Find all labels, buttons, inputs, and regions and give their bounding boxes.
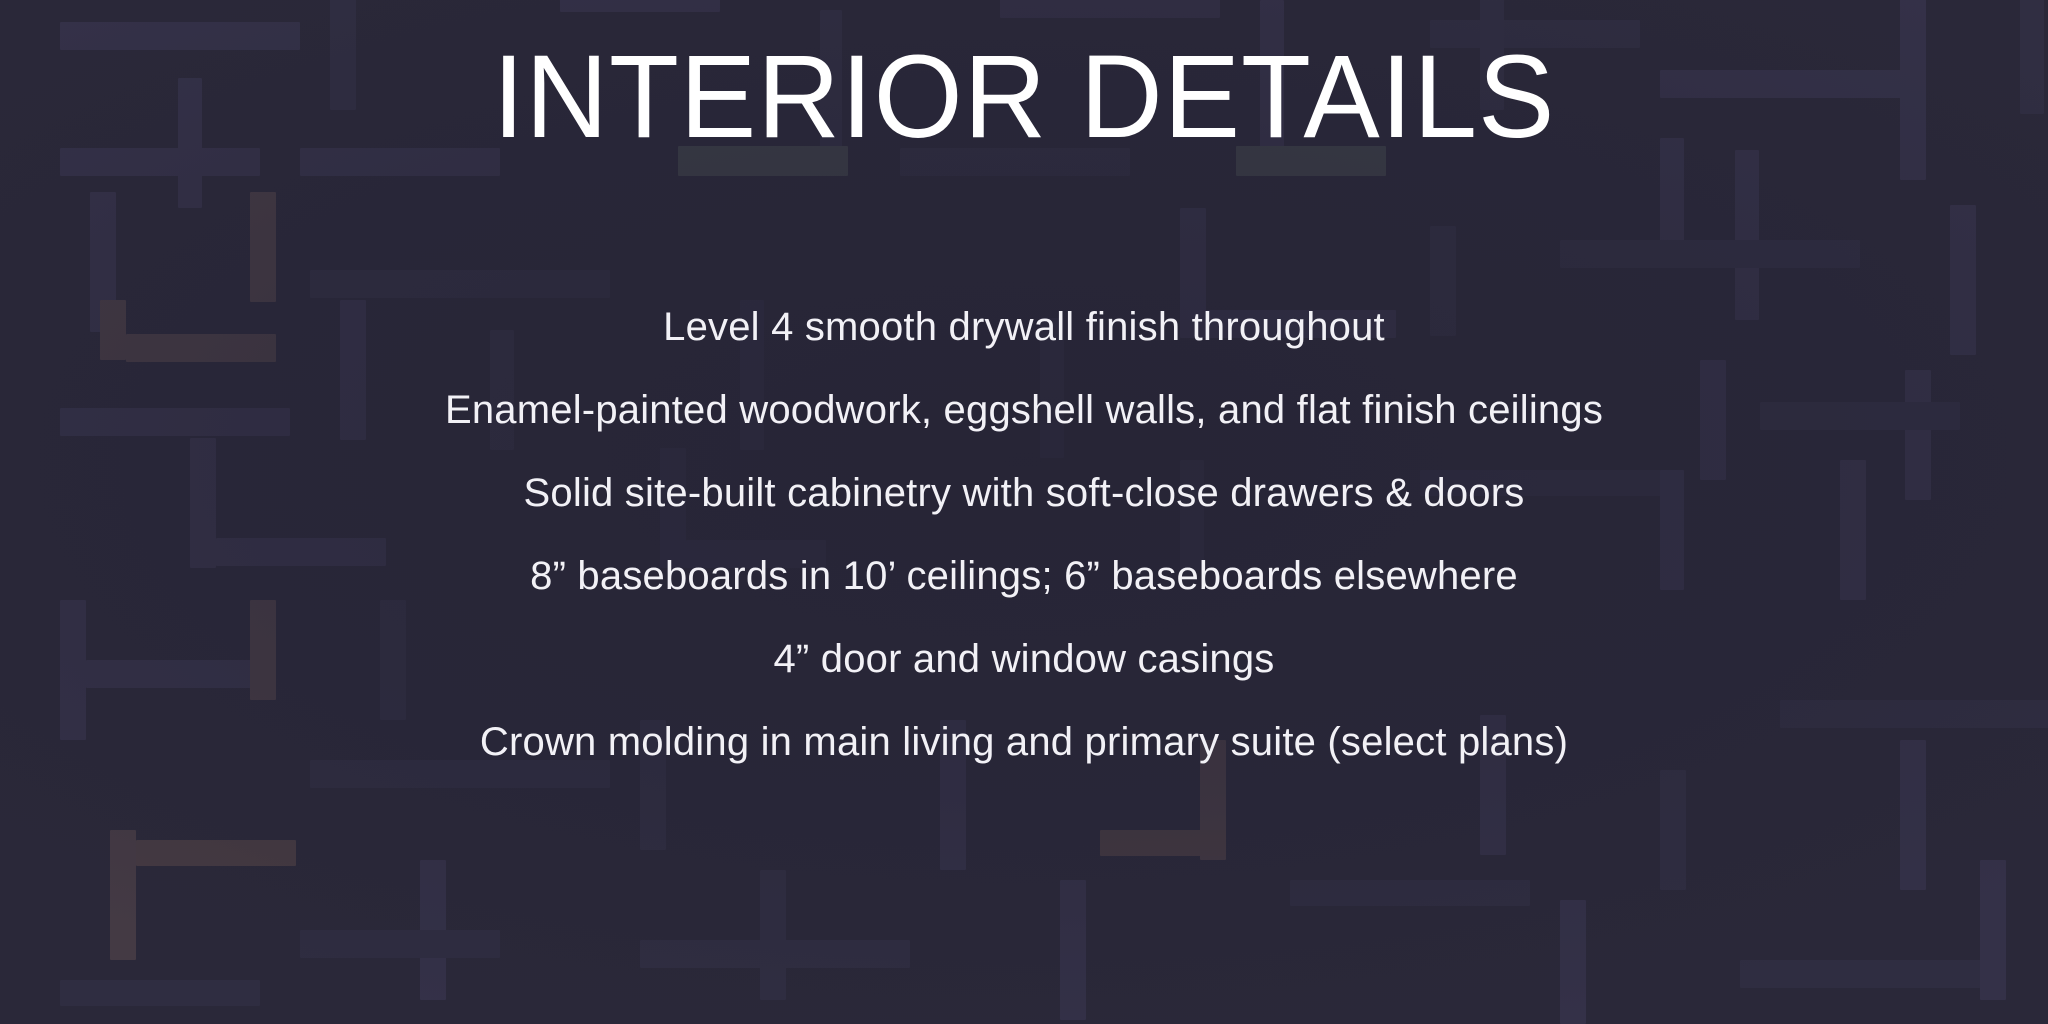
list-item: Crown molding in main living and primary… bbox=[0, 701, 2048, 784]
list-item: Enamel-painted woodwork, eggshell walls,… bbox=[0, 369, 2048, 452]
list-item: 8” baseboards in 10’ ceilings; 6” basebo… bbox=[0, 535, 2048, 618]
interior-details-list: Level 4 smooth drywall finish throughout… bbox=[0, 286, 2048, 784]
slide-canvas: INTERIOR DETAILS Level 4 smooth drywall … bbox=[0, 0, 2048, 1024]
list-item: 4” door and window casings bbox=[0, 618, 2048, 701]
page-title: INTERIOR DETAILS bbox=[31, 38, 2018, 156]
list-item: Level 4 smooth drywall finish throughout bbox=[0, 286, 2048, 369]
list-item: Solid site-built cabinetry with soft-clo… bbox=[0, 452, 2048, 535]
slide-content: INTERIOR DETAILS Level 4 smooth drywall … bbox=[0, 0, 2048, 1024]
